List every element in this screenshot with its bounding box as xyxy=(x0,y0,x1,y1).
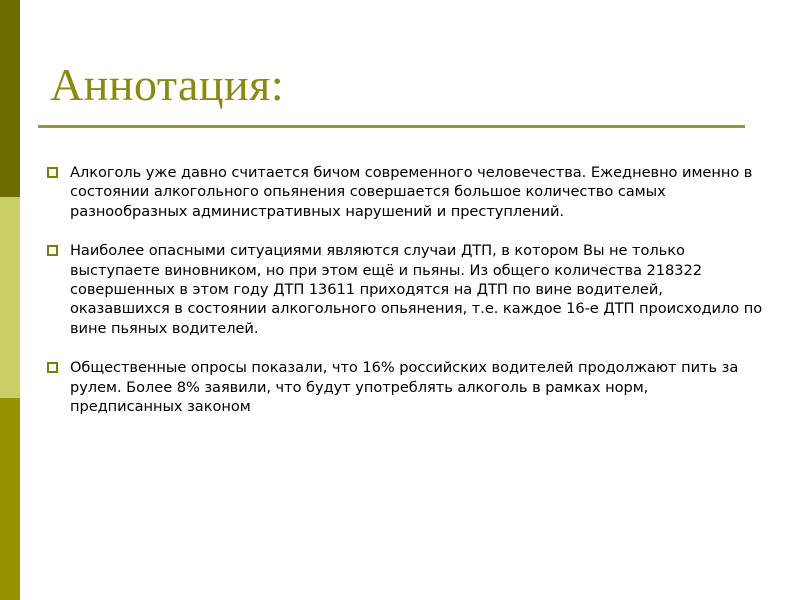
list-item-text: Алкоголь уже давно считается бичом совре… xyxy=(70,163,764,221)
sidebar-segment-top xyxy=(0,0,20,197)
list-item-text: Наиболее опасными ситуациями являются сл… xyxy=(70,241,764,338)
slide-sidebar-decoration xyxy=(0,0,20,600)
list-item: Наиболее опасными ситуациями являются сл… xyxy=(44,241,764,338)
slide-title: Аннотация: xyxy=(50,58,284,112)
square-bullet-icon xyxy=(47,362,58,373)
sidebar-segment-bottom xyxy=(0,398,20,600)
presentation-slide: Аннотация: Алкоголь уже давно считается … xyxy=(0,0,800,600)
sidebar-segment-middle xyxy=(0,197,20,398)
list-item-text: Общественные опросы показали, что 16% ро… xyxy=(70,358,764,416)
slide-body-bullet-list: Алкоголь уже давно считается бичом совре… xyxy=(44,163,764,416)
list-item: Алкоголь уже давно считается бичом совре… xyxy=(44,163,764,221)
title-underline-rule xyxy=(38,125,745,128)
list-item: Общественные опросы показали, что 16% ро… xyxy=(44,358,764,416)
square-bullet-icon xyxy=(47,167,58,178)
square-bullet-icon xyxy=(47,245,58,256)
